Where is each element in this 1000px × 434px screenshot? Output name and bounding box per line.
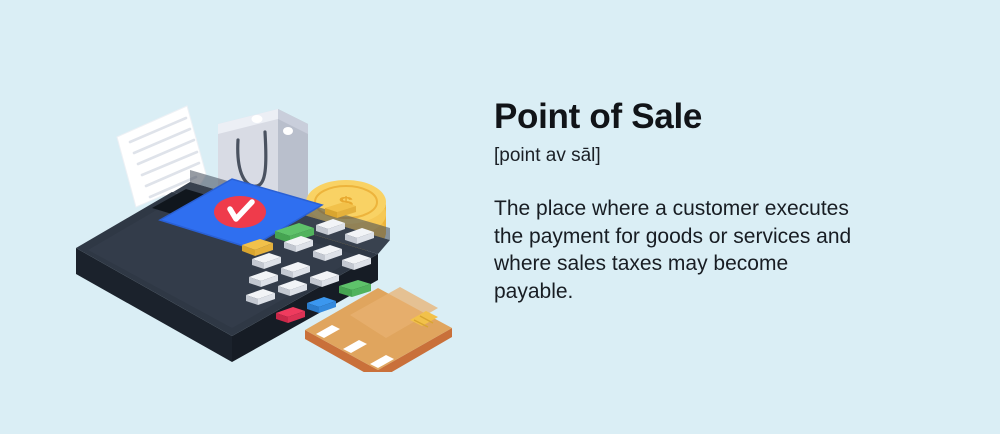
definition-text: The place where a customer executes the … xyxy=(494,195,854,306)
approval-check-icon xyxy=(214,196,266,228)
page-title: Point of Sale xyxy=(494,96,914,137)
pronunciation-text: [point av sāl] xyxy=(494,144,914,169)
definition-card: $ xyxy=(0,0,1000,434)
definition-text-block: Point of Sale [point av sāl] The place w… xyxy=(494,96,914,306)
pos-terminal-illustration: $ xyxy=(60,62,460,372)
pos-terminal-icon xyxy=(76,170,452,372)
